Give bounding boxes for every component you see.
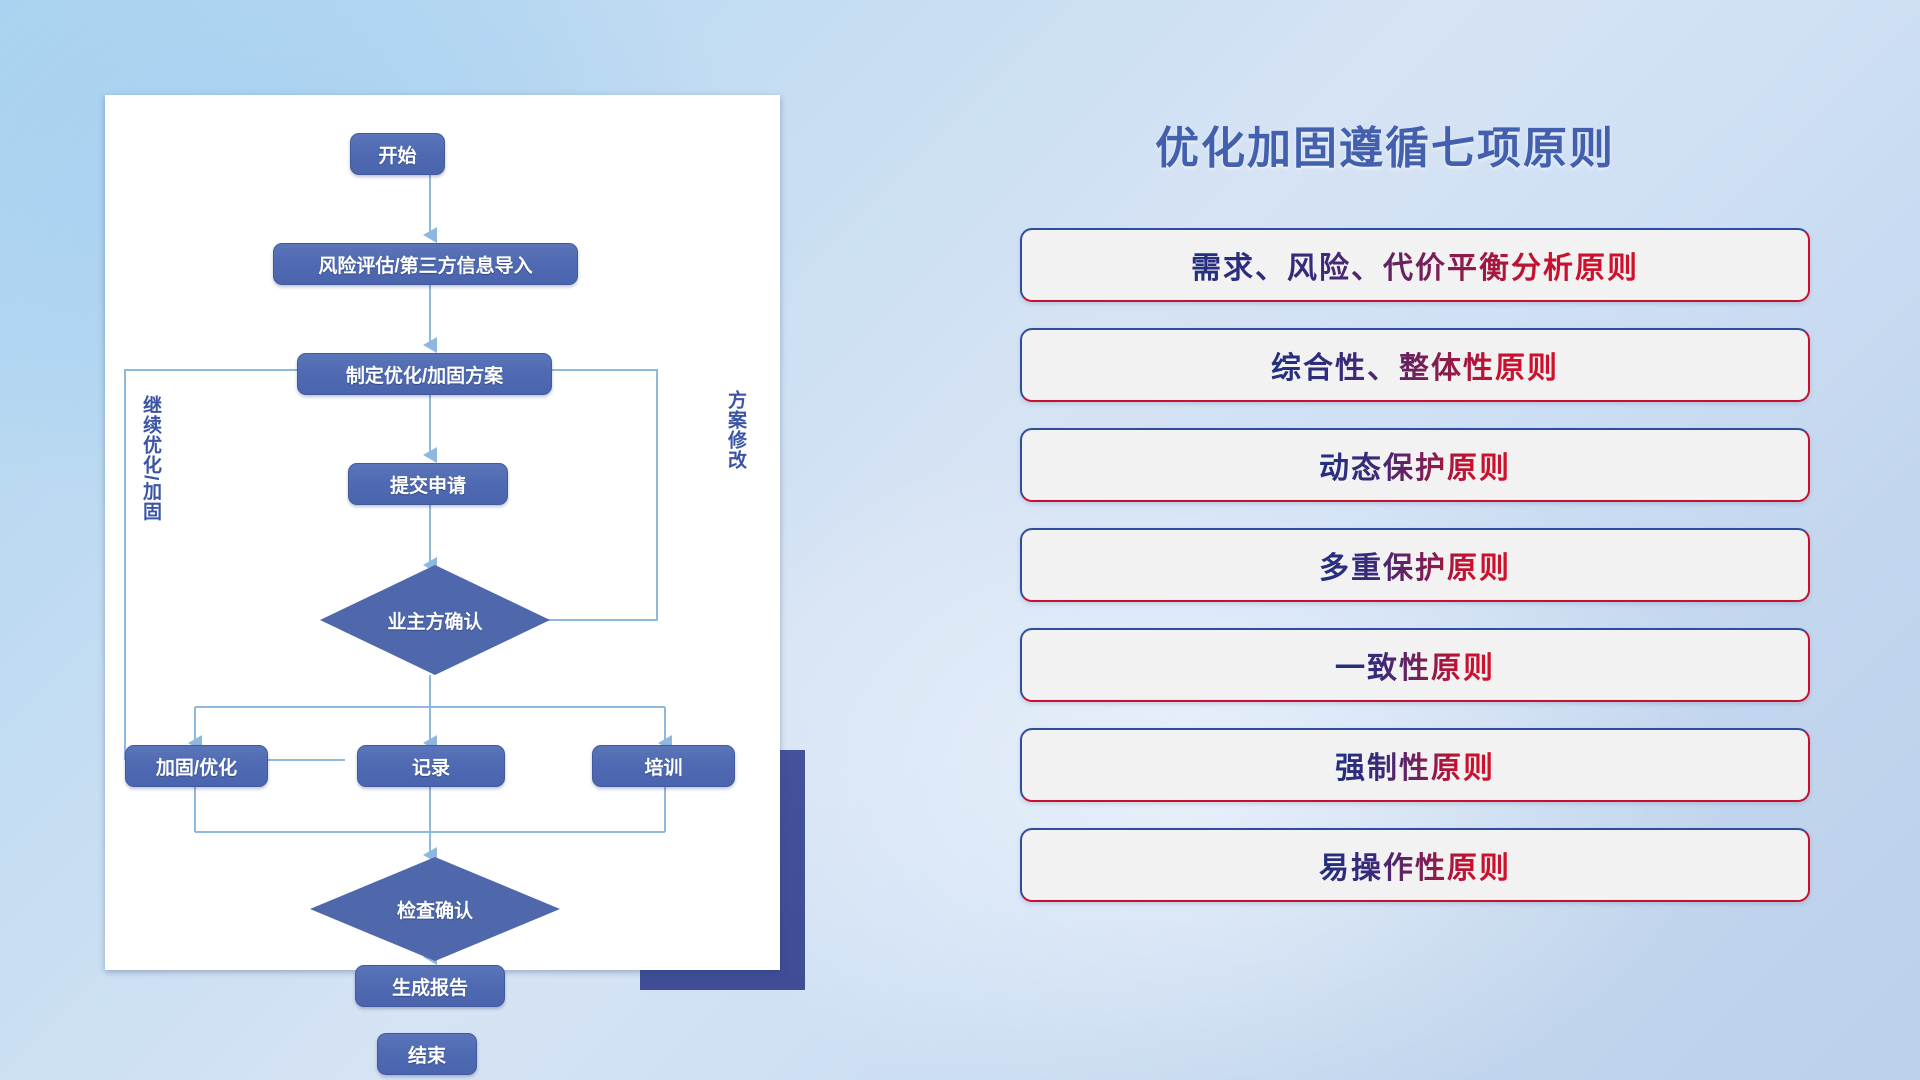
flow-node-owner-confirm-label: 业主方确认 <box>387 607 482 634</box>
principles-pane: 优化加固遵循七项原则 需求、风险、代价平衡分析原则 综合性、整体性原则 动态保护… <box>1020 0 1920 1080</box>
flow-edge-label-left-loop: 继续优化/加固 <box>140 395 160 521</box>
principle-card-1-label: 需求、风险、代价平衡分析原则 <box>1191 243 1639 287</box>
principle-card-6-label: 强制性原则 <box>1335 743 1495 787</box>
flow-edge-label-right-loop: 方案修改 <box>725 390 745 470</box>
flow-node-submit-label: 提交申请 <box>390 471 466 498</box>
flow-node-report[interactable]: 生成报告 <box>355 965 505 1007</box>
flow-node-end[interactable]: 结束 <box>377 1033 477 1075</box>
flow-node-training-label: 培训 <box>644 753 682 780</box>
flowchart-connectors <box>105 95 780 970</box>
principle-card-7[interactable]: 易操作性原则 <box>1020 828 1810 902</box>
principle-card-1[interactable]: 需求、风险、代价平衡分析原则 <box>1020 228 1810 302</box>
flow-node-training[interactable]: 培训 <box>592 745 735 787</box>
principle-card-6[interactable]: 强制性原则 <box>1020 728 1810 802</box>
principles-list: 需求、风险、代价平衡分析原则 综合性、整体性原则 动态保护原则 多重保护原则 一… <box>1020 228 1810 928</box>
principle-card-2-label: 综合性、整体性原则 <box>1271 343 1559 387</box>
flow-node-check-confirm[interactable]: 检查确认 <box>310 857 560 961</box>
principles-title: 优化加固遵循七项原则 <box>1155 112 1615 176</box>
flow-node-plan[interactable]: 制定优化/加固方案 <box>297 353 552 395</box>
flow-node-record-label: 记录 <box>412 753 450 780</box>
flow-node-owner-confirm[interactable]: 业主方确认 <box>320 565 550 675</box>
flow-node-start-label: 开始 <box>378 141 416 168</box>
principle-card-3-label: 动态保护原则 <box>1319 443 1511 487</box>
principle-card-5[interactable]: 一致性原则 <box>1020 628 1810 702</box>
flowchart-card: 开始 风险评估/第三方信息导入 制定优化/加固方案 提交申请 业主方确认 加固/… <box>105 95 780 970</box>
flow-node-risk-assessment[interactable]: 风险评估/第三方信息导入 <box>273 243 578 285</box>
principle-card-3[interactable]: 动态保护原则 <box>1020 428 1810 502</box>
principle-card-4[interactable]: 多重保护原则 <box>1020 528 1810 602</box>
principle-card-5-label: 一致性原则 <box>1335 643 1495 687</box>
principle-card-4-label: 多重保护原则 <box>1319 543 1511 587</box>
flow-node-check-confirm-label: 检查确认 <box>397 896 473 923</box>
flow-node-reinforce-label: 加固/优化 <box>156 753 237 780</box>
flow-node-reinforce[interactable]: 加固/优化 <box>125 745 268 787</box>
principle-card-2[interactable]: 综合性、整体性原则 <box>1020 328 1810 402</box>
principle-card-7-label: 易操作性原则 <box>1319 843 1511 887</box>
flow-node-plan-label: 制定优化/加固方案 <box>346 361 503 388</box>
flow-node-report-label: 生成报告 <box>392 973 468 1000</box>
flow-node-record[interactable]: 记录 <box>357 745 505 787</box>
flow-node-end-label: 结束 <box>408 1041 446 1068</box>
flow-node-risk-assessment-label: 风险评估/第三方信息导入 <box>318 251 532 278</box>
flow-node-start[interactable]: 开始 <box>350 133 445 175</box>
flow-node-submit[interactable]: 提交申请 <box>348 463 508 505</box>
